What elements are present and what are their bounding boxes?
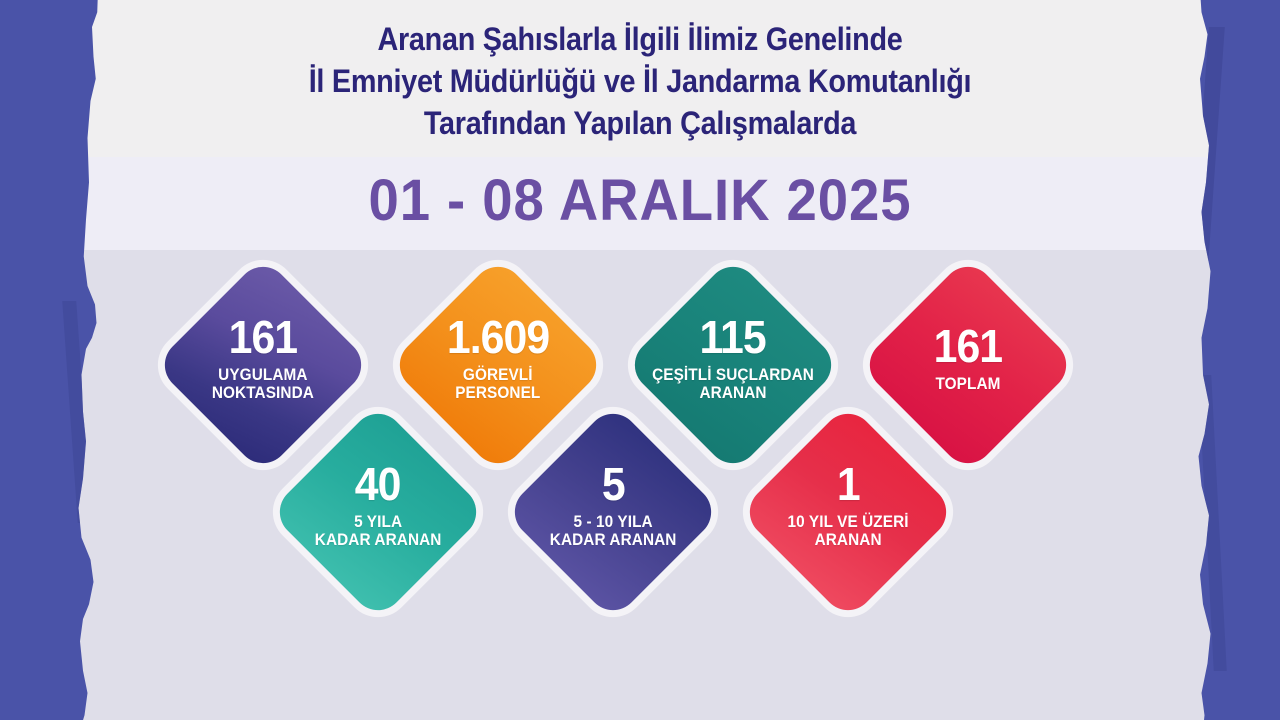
stat-label-line-1: 5 - 10 YILA: [550, 514, 677, 532]
stat-label-line-1: UYGULAMA: [212, 367, 314, 385]
stat-content: 1.609 GÖREVLİ PERSONEL: [421, 288, 575, 442]
stat-diamond-cesitli-suclardan-aranan: 115 ÇEŞİTLİ SUÇLARDAN ARANAN: [624, 256, 842, 474]
stat-label: UYGULAMA NOKTASINDA: [212, 367, 314, 403]
stat-label-line-2: NOKTASINDA: [212, 385, 314, 403]
stat-value: 5: [602, 460, 625, 510]
stat-label-line-2: ARANAN: [652, 385, 814, 403]
statistics-diamond-grid: 40 5 YILA KADAR ARANAN 5 5 - 10 YILA KAD…: [0, 0, 1280, 720]
stat-label-line-1: ÇEŞİTLİ SUÇLARDAN: [652, 367, 814, 385]
stat-diamond-gorevli-personel: 1.609 GÖREVLİ PERSONEL: [389, 256, 607, 474]
stat-label: ÇEŞİTLİ SUÇLARDAN ARANAN: [652, 367, 814, 403]
stat-label-line-2: KADAR ARANAN: [315, 532, 442, 550]
stat-label: 5 - 10 YILA KADAR ARANAN: [550, 514, 677, 550]
stat-label: 5 YILA KADAR ARANAN: [315, 514, 442, 550]
infographic-poster: Aranan Şahıslarla İlgili İlimiz Genelind…: [0, 0, 1280, 720]
stat-value: 1.609: [447, 313, 549, 363]
stat-value: 161: [229, 313, 298, 363]
stat-label-line-2: ARANAN: [787, 532, 908, 550]
stat-label-line-2: PERSONEL: [455, 385, 540, 403]
stat-label-line-2: KADAR ARANAN: [550, 532, 677, 550]
stat-content: 1 10 YIL VE ÜZERİ ARANAN: [771, 435, 925, 589]
stat-label-line-1: TOPLAM: [935, 376, 1000, 394]
stat-content: 161 UYGULAMA NOKTASINDA: [186, 288, 340, 442]
stat-value: 40: [355, 460, 401, 510]
stat-content: 40 5 YILA KADAR ARANAN: [301, 435, 455, 589]
stat-diamond-toplam: 161 TOPLAM: [859, 256, 1077, 474]
stat-content: 115 ÇEŞİTLİ SUÇLARDAN ARANAN: [656, 288, 810, 442]
stat-label-line-1: GÖREVLİ: [455, 367, 540, 385]
stat-diamond-uygulama-noktasinda: 161 UYGULAMA NOKTASINDA: [154, 256, 372, 474]
stat-content: 161 TOPLAM: [891, 288, 1045, 442]
stat-content: 5 5 - 10 YILA KADAR ARANAN: [536, 435, 690, 589]
stat-label-line-1: 5 YILA: [315, 514, 442, 532]
stat-label: TOPLAM: [935, 376, 1000, 394]
stat-label: 10 YIL VE ÜZERİ ARANAN: [787, 514, 908, 550]
stat-label-line-1: 10 YIL VE ÜZERİ: [787, 514, 908, 532]
stat-label: GÖREVLİ PERSONEL: [455, 367, 540, 403]
stat-value: 115: [700, 313, 766, 363]
stat-value: 1: [837, 460, 860, 510]
stat-value: 161: [934, 322, 1003, 372]
